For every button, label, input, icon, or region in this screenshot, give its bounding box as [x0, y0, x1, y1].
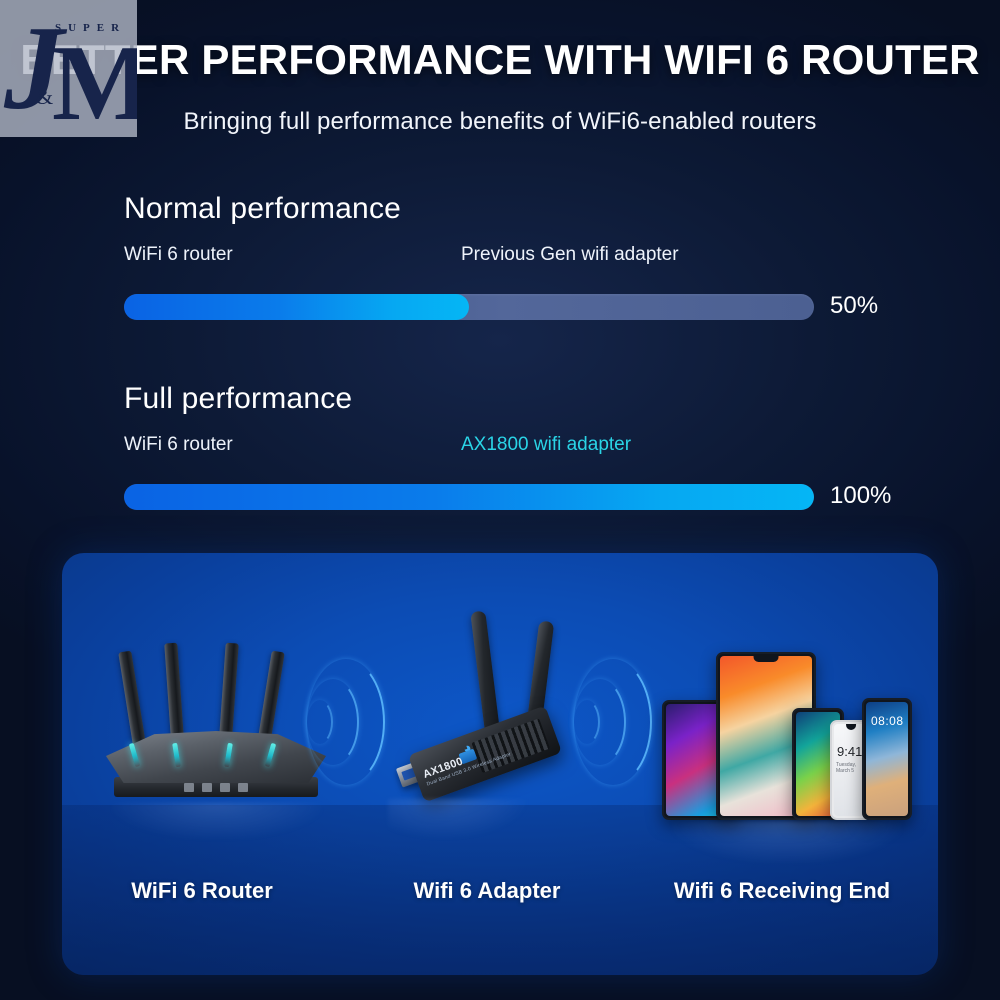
full-performance-section: Full performance WiFi 6 router AX1800 wi… [124, 382, 884, 510]
full-performance-percent: 100% [830, 482, 891, 510]
normal-performance-legend: WiFi 6 router Previous Gen wifi adapter [124, 244, 884, 270]
caption-adapter: Wifi 6 Adapter [357, 878, 617, 904]
router-icon [102, 633, 332, 813]
full-performance-bar-row: 100% [124, 484, 884, 510]
page-title: BETTER PERFORMANCE WITH WIFI 6 ROUTER [0, 36, 1000, 84]
wifi-signal-waves-left-icon [307, 657, 397, 787]
phone2-time: 08:08 [871, 714, 904, 728]
product-infographic-page: BETTER PERFORMANCE WITH WIFI 6 ROUTER Br… [0, 0, 1000, 1000]
normal-performance-bar-row: 50% [124, 294, 884, 320]
full-performance-heading: Full performance [124, 382, 884, 416]
router-light-1 [184, 783, 194, 792]
full-performance-bar-track [124, 484, 814, 510]
watermark-super-text: SUPER [55, 22, 126, 34]
full-legend-left-label: WiFi 6 router [124, 434, 233, 456]
normal-performance-bar-track [124, 294, 814, 320]
router-reflection [112, 803, 322, 839]
adapter-reflection [388, 799, 528, 839]
full-performance-bar-fill [124, 484, 814, 510]
router-light-2 [202, 783, 212, 792]
normal-performance-percent: 50% [830, 292, 878, 320]
full-legend-right-label: AX1800 wifi adapter [461, 434, 631, 456]
normal-legend-right-label: Previous Gen wifi adapter [461, 244, 679, 266]
device-phone-blue: 08:08 [862, 698, 912, 820]
router-light-4 [238, 783, 248, 792]
watermark-ampersand: & [36, 84, 53, 110]
normal-performance-bar-fill [124, 294, 469, 320]
normal-legend-left-label: WiFi 6 router [124, 244, 233, 266]
devices-reflection [672, 821, 902, 863]
normal-performance-heading: Normal performance [124, 192, 884, 226]
router-status-lights [184, 783, 248, 792]
router-light-3 [220, 783, 230, 792]
wave-arc-3 [307, 659, 385, 785]
product-showcase-panel: ◕ AX1800 Dual Band USB 3.0 Wireless Adap… [62, 553, 938, 975]
wave-arc-3 [574, 659, 652, 785]
caption-receiving-end: Wifi 6 Receiving End [632, 878, 932, 904]
usb-wifi-adapter-icon: ◕ AX1800 Dual Band USB 3.0 Wireless Adap… [392, 611, 592, 821]
normal-performance-section: Normal performance WiFi 6 router Previou… [124, 192, 884, 320]
adapter-antenna-1 [470, 611, 500, 740]
device-camera-dot [754, 656, 779, 662]
router-antenna-1 [118, 651, 146, 752]
caption-router: WiFi 6 Router [72, 878, 332, 904]
multi-device-icon: 9:41 Tuesday, March 5 08:08 [662, 625, 912, 820]
full-performance-legend: WiFi 6 router AX1800 wifi adapter [124, 434, 884, 460]
wifi-signal-waves-right-icon [574, 657, 664, 787]
page-subtitle: Bringing full performance benefits of Wi… [0, 108, 1000, 136]
phone-time: 9:41 [837, 744, 862, 759]
